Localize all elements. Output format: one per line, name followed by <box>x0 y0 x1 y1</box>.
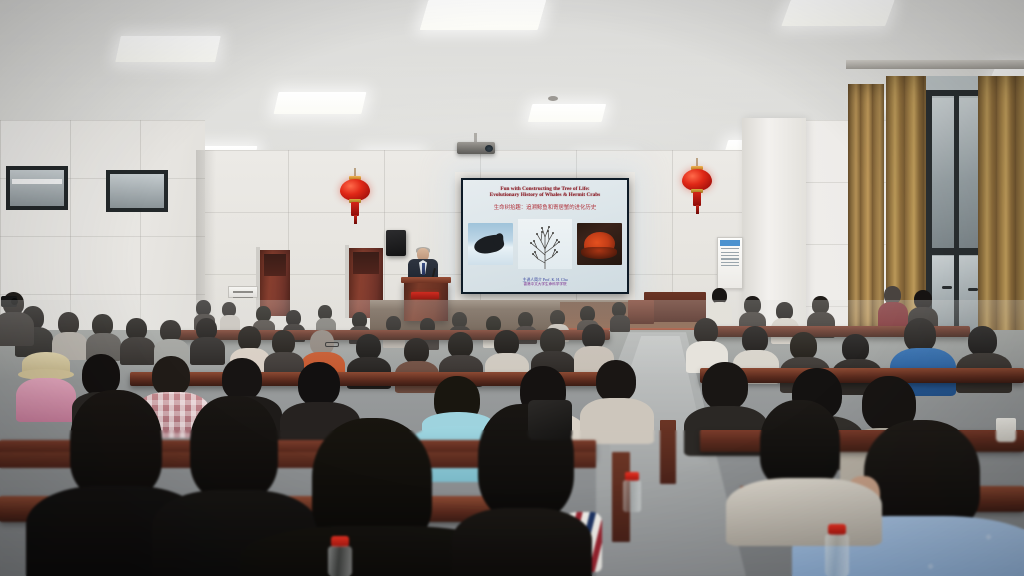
water-bottle[interactable] <box>327 536 353 576</box>
phylogenetic-tree-diagram <box>518 219 572 269</box>
curtain-rod <box>846 60 1024 69</box>
slide-title-line2: Evolutionary History of Whales & Hermit … <box>467 192 623 198</box>
slide-title: Fun with Constructing the Tree of Life: … <box>467 186 623 199</box>
hermit-crab-photo <box>577 223 622 265</box>
water-bottle[interactable] <box>622 472 642 512</box>
tree-diagram-svg <box>518 219 572 269</box>
notice-line <box>721 258 739 259</box>
audience-member <box>92 314 118 354</box>
ceiling-projector <box>452 133 500 159</box>
audience-member <box>222 302 240 328</box>
window-handle[interactable] <box>968 288 978 291</box>
person-head <box>742 326 768 353</box>
person-head <box>222 358 262 400</box>
person-head <box>790 332 817 360</box>
person-head <box>842 334 869 362</box>
lantern-tassel-tip <box>354 215 357 224</box>
person-head <box>702 362 748 410</box>
presenter-tie <box>422 263 425 275</box>
window-mullion <box>926 248 984 255</box>
lantern-body <box>682 169 712 191</box>
person-torso <box>726 478 882 546</box>
clerestory-window-left-2 <box>106 170 168 212</box>
audience-member <box>694 318 722 364</box>
podium-red-plate <box>411 292 439 299</box>
audience-member <box>884 286 904 320</box>
presentation-slide: Fun with Constructing the Tree of Life: … <box>463 180 627 292</box>
notice-line <box>721 265 739 266</box>
camera-lens-icon <box>11 298 18 305</box>
clerestory-window-left <box>6 166 68 210</box>
person-head <box>760 400 840 488</box>
person-head <box>904 318 936 352</box>
person-head <box>968 326 997 356</box>
wall-notice-sign <box>228 286 258 298</box>
audience-member <box>196 318 222 358</box>
audience-member <box>744 296 764 328</box>
audience-member <box>712 288 730 318</box>
lantern-tassel <box>693 192 701 206</box>
audience-member <box>160 320 186 360</box>
notice-line <box>721 255 739 256</box>
person-head <box>298 362 340 406</box>
slide-credit-line2: 香港中文大学生命科学学院 <box>467 282 623 287</box>
audience-member <box>812 296 832 328</box>
notice-board <box>717 237 743 289</box>
window-mullion <box>926 90 984 96</box>
door-transom <box>264 254 286 276</box>
ceiling-light-panel <box>420 0 547 30</box>
notice-line <box>721 252 739 253</box>
wall-speaker <box>386 230 406 256</box>
ceiling-light-panel <box>528 104 606 122</box>
audience-member <box>318 305 336 331</box>
bottle-body <box>623 480 641 512</box>
lecture-hall-photo: Fun with Constructing the Tree of Life: … <box>0 0 1024 576</box>
projector-lens-icon <box>485 145 493 152</box>
slide-image-row <box>468 216 622 272</box>
lantern-tassel-tip <box>696 205 699 214</box>
bottle-body <box>825 534 849 576</box>
lectern-podium <box>404 281 448 321</box>
podium-top <box>401 277 451 283</box>
orca-photo <box>468 223 513 265</box>
audience-member <box>696 362 754 434</box>
notice-board-header <box>720 240 740 246</box>
door-transom <box>353 252 379 274</box>
notice-line <box>721 248 739 249</box>
audience-member-photographer <box>0 292 30 340</box>
paper-cup <box>996 418 1016 442</box>
lantern-tassel <box>351 202 359 216</box>
audience-member-foreground-hoodie <box>280 418 470 576</box>
eyeglasses-icon <box>325 342 339 347</box>
water-bottle[interactable] <box>824 524 850 576</box>
bottle-body <box>328 546 352 576</box>
smoke-detector-icon <box>548 96 558 101</box>
person-torso <box>0 312 34 346</box>
slide-subtitle: 生命树拾趣：追溯鲸鱼和寄居蟹的进化历史 <box>467 205 623 211</box>
person-head <box>190 396 278 500</box>
projection-screen: Fun with Constructing the Tree of Life: … <box>461 178 629 294</box>
ceiling-light-panel <box>273 92 366 114</box>
slide-credit: 主讲人简介 Prof. K. H. Chu 香港中文大学生命科学学院 <box>467 278 623 287</box>
notice-line <box>721 262 739 263</box>
audience-member-right-near <box>750 400 860 530</box>
ceiling-light-panel <box>781 0 894 26</box>
audience-member <box>612 302 630 328</box>
bag <box>528 400 572 440</box>
person-head <box>70 390 162 498</box>
person-torso <box>610 315 630 332</box>
person-torso <box>452 508 592 576</box>
window-curtain-far[interactable] <box>848 84 884 334</box>
person-torso <box>580 398 654 444</box>
person-head <box>596 360 636 402</box>
stage-side-table-2 <box>628 300 654 324</box>
audience-member <box>590 360 642 426</box>
window-handle[interactable] <box>942 286 952 289</box>
person-torso <box>220 315 240 331</box>
audience-member <box>58 312 84 352</box>
audience-member <box>126 318 152 358</box>
ceiling-light-panel <box>115 36 221 62</box>
lantern-body <box>340 179 370 201</box>
door-jamb <box>345 245 349 318</box>
bench-back-panel <box>660 420 676 484</box>
